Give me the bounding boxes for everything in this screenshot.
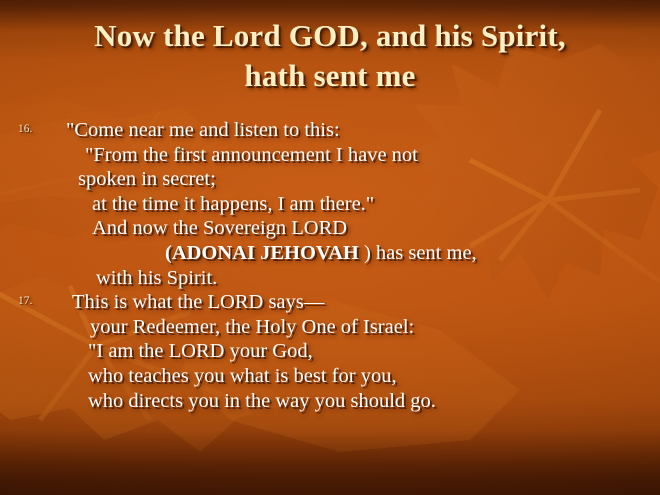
verse-number-marker: 16. <box>18 124 32 136</box>
verse-line-text: And now the Sovereign LORD <box>92 216 347 241</box>
verse-line: your Redeemer, the Holy One of Israel: <box>0 315 660 340</box>
verse-line-text: (ADONAI JEHOVAH ) has sent me, <box>165 241 477 266</box>
verse-line-text: "Come near me and listen to this: <box>66 118 340 143</box>
verse-line-text: with his Spirit. <box>96 266 217 291</box>
verse-line: 16."Come near me and listen to this: <box>0 118 660 143</box>
verse-line: "From the first announcement I have not <box>0 143 660 168</box>
verse-line-text: "I am the LORD your God, <box>88 339 313 364</box>
verse-line: who teaches you what is best for you, <box>0 364 660 389</box>
verse-line-text: who directs you in the way you should go… <box>88 389 436 414</box>
verse-line-text: "From the first announcement I have not <box>85 143 418 168</box>
verse-line-text: at the time it happens, I am there." <box>92 192 374 217</box>
slide-body: 16."Come near me and listen to this:"Fro… <box>0 118 660 413</box>
divine-name-emphasis: (ADONAI JEHOVAH <box>165 242 359 264</box>
presentation-slide: Now the Lord GOD, and his Spirit, hath s… <box>0 0 660 495</box>
verse-line-text: who teaches you what is best for you, <box>88 364 397 389</box>
verse-line: spoken in secret; <box>0 167 660 192</box>
verse-line: "I am the LORD your God, <box>0 339 660 364</box>
verse-line: with his Spirit. <box>0 266 660 291</box>
slide-title: Now the Lord GOD, and his Spirit, hath s… <box>0 16 660 96</box>
verse-line: at the time it happens, I am there." <box>0 192 660 217</box>
verse-line-text: spoken in secret; <box>78 167 216 192</box>
verse-line: 17.This is what the LORD says— <box>0 290 660 315</box>
verse-line-text: your Redeemer, the Holy One of Israel: <box>90 315 414 340</box>
verse-line: who directs you in the way you should go… <box>0 389 660 414</box>
verse-line: (ADONAI JEHOVAH ) has sent me, <box>0 241 660 266</box>
verse-line-suffix: ) has sent me, <box>359 242 477 264</box>
verse-line-text: This is what the LORD says— <box>72 290 324 315</box>
verse-line: And now the Sovereign LORD <box>0 216 660 241</box>
verse-number-marker: 17. <box>18 296 32 308</box>
